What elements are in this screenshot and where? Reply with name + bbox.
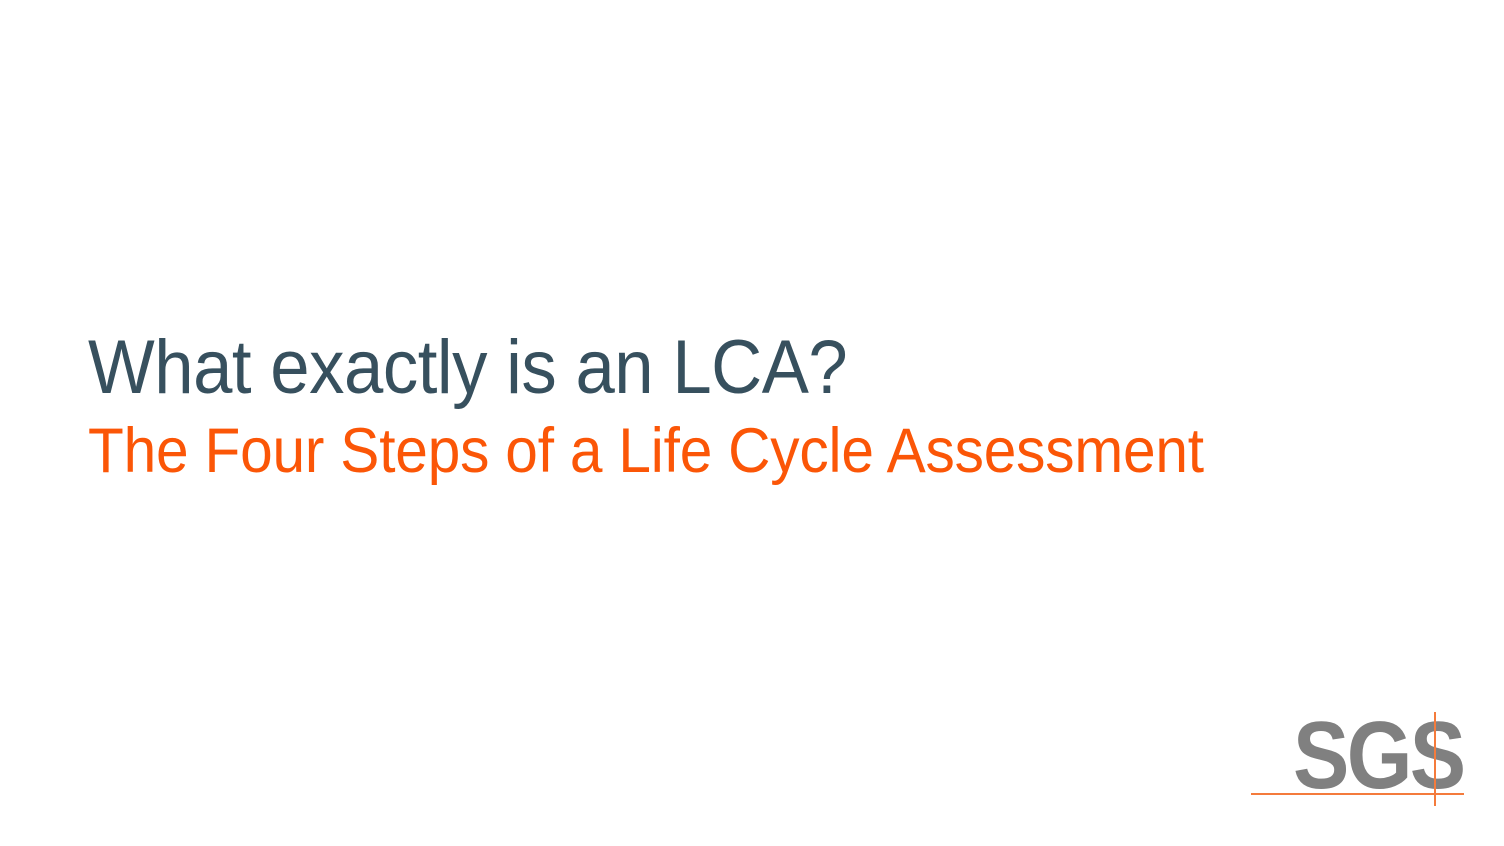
- title-block: What exactly is an LCA? The Four Steps o…: [88, 330, 1388, 483]
- logo-vertical-rule: [1434, 712, 1436, 806]
- sgs-logo: SGS: [1251, 706, 1464, 808]
- page-subtitle: The Four Steps of a Life Cycle Assessmen…: [88, 420, 1297, 483]
- page-title: What exactly is an LCA?: [88, 330, 1297, 406]
- presentation-slide: What exactly is an LCA? The Four Steps o…: [0, 0, 1504, 846]
- logo-horizontal-rule: [1251, 793, 1464, 795]
- sgs-wordmark-text: SGS: [1293, 712, 1463, 800]
